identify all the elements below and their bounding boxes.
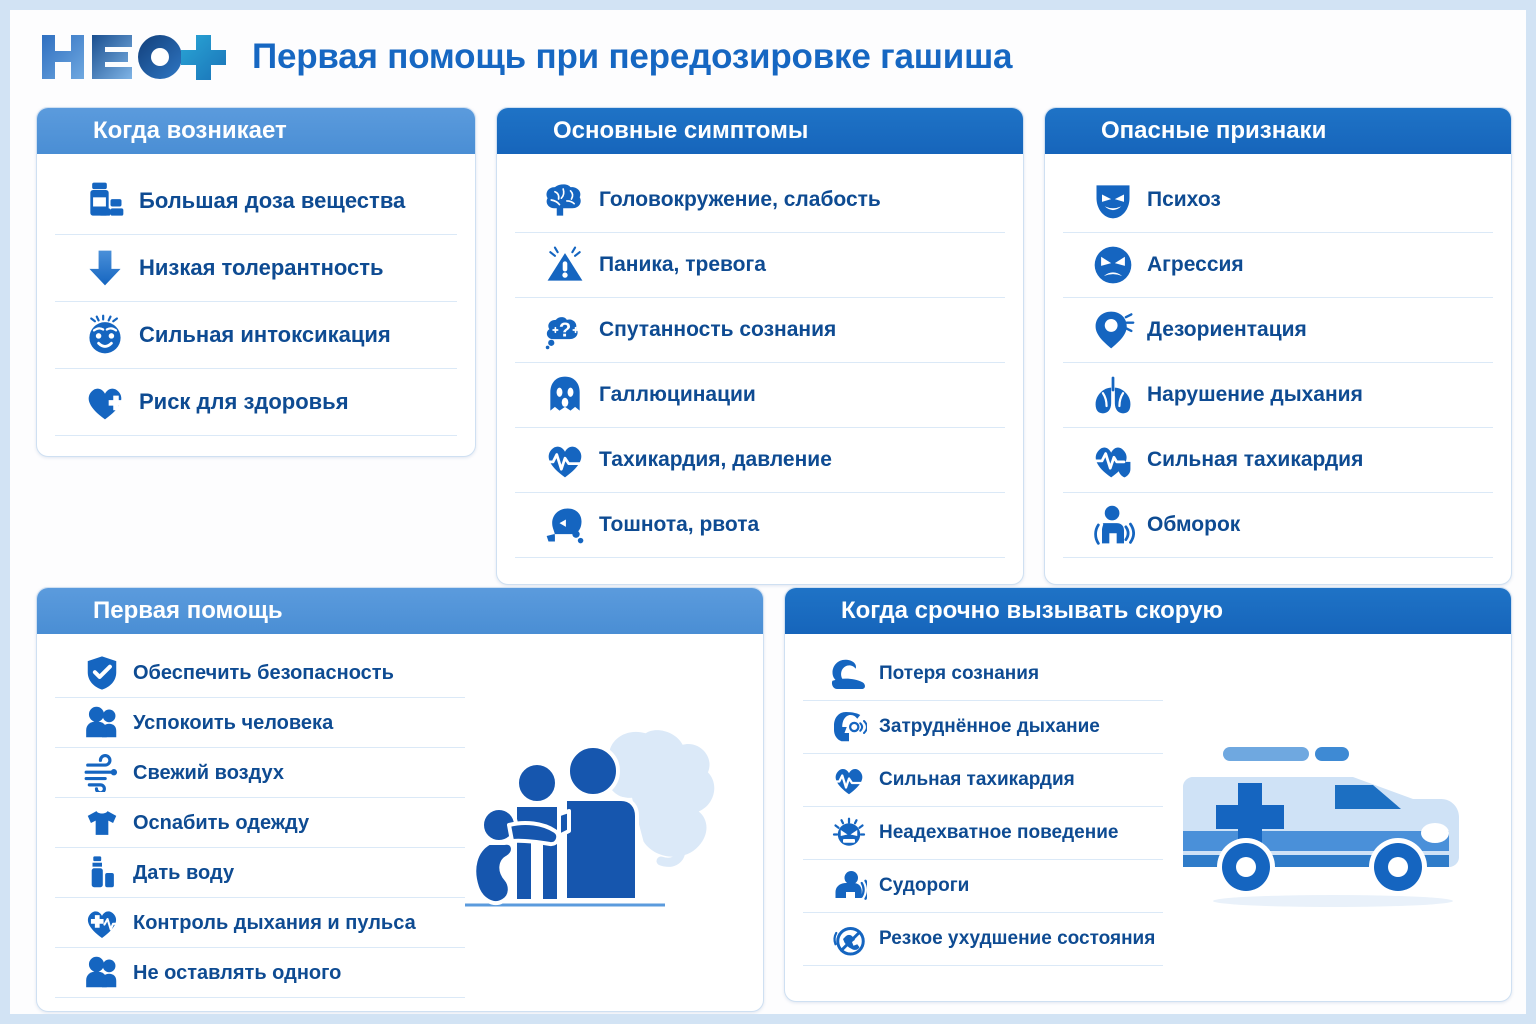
list-item[interactable]: Обморок: [1063, 493, 1493, 558]
warning-icon: [543, 243, 587, 287]
list-item-label: Судороги: [879, 876, 969, 897]
list-item[interactable]: Агрессия: [1063, 233, 1493, 298]
water-bottle-icon: [83, 854, 121, 892]
list-item[interactable]: Резкое ухудшение состояния: [803, 913, 1163, 966]
list-item-label: Большая доза вещества: [139, 189, 405, 213]
card-first-aid-title: Первая помощь: [37, 588, 763, 634]
list-item[interactable]: Осnабить одежду: [55, 798, 465, 848]
neo-plus-logo: [38, 29, 234, 85]
list-item-label: Свежий воздух: [133, 762, 284, 784]
angry-radiating-icon: [831, 815, 867, 851]
card-danger-signs: Опасные признаки Психоз: [1044, 107, 1512, 585]
fainting-icon: [1091, 503, 1135, 547]
shield-check-icon: [83, 654, 121, 692]
list-item[interactable]: Головокружение, слабость: [515, 168, 1005, 233]
list-item[interactable]: Судороги: [803, 860, 1163, 913]
list-item-label: Риск для здоровья: [139, 390, 349, 414]
list-item[interactable]: Галлюцинации: [515, 363, 1005, 428]
down-arrow-icon: [83, 246, 127, 290]
two-people-icon: [83, 954, 121, 992]
two-people-icon: [83, 704, 121, 742]
list-item-label: Обеспечить безопасность: [133, 662, 394, 684]
list-item-label: Обморок: [1147, 513, 1240, 536]
first-aid-list: Обеспечить безопасность Успокоить челове…: [55, 648, 465, 999]
list-item[interactable]: Успокоить человека: [55, 698, 465, 748]
page-header: Первая помощь при передозировке гашиша: [38, 18, 1012, 96]
list-item[interactable]: Потеря сознания: [803, 648, 1163, 701]
when-occurs-list: Большая доза вещества Низкая толерантнос…: [55, 168, 457, 444]
card-first-aid: Первая помощь Обеспечить безопасность: [36, 587, 764, 1012]
thought-question-icon: ?: [543, 308, 587, 352]
card-main-symptoms-title: Основные симптомы: [497, 108, 1023, 154]
ghost-icon: [543, 373, 587, 417]
list-item[interactable]: ? Спутанность сознания: [515, 298, 1005, 363]
list-item[interactable]: Дезориентация: [1063, 298, 1493, 363]
list-item-label: Головокружение, слабость: [599, 188, 881, 211]
list-item[interactable]: Нарушение дыхания: [1063, 363, 1493, 428]
unconscious-icon: [831, 656, 867, 692]
lungs-icon: [1091, 373, 1135, 417]
card-emergency-call: Когда срочно вызывать скорую Потеря созн…: [784, 587, 1512, 1002]
list-item-label: Дать воду: [133, 862, 234, 884]
list-item-label: Галлюцинации: [599, 383, 756, 406]
list-item[interactable]: Дать воду: [55, 848, 465, 898]
heart-shield-pulse-icon: [1091, 438, 1135, 482]
mask-icon: [1091, 178, 1135, 222]
list-item-label: Тошнота, рвота: [599, 513, 759, 536]
list-item[interactable]: Паника, тревога: [515, 233, 1005, 298]
list-item-label: Психоз: [1147, 188, 1221, 211]
pill-bottle-icon: [83, 179, 127, 223]
list-item-label: Спутанность сознания: [599, 318, 836, 341]
heart-pulse-icon: [543, 438, 587, 482]
breathing-difficulty-icon: [831, 709, 867, 745]
seizure-icon: [831, 868, 867, 904]
symptoms-list: Головокружение, слабость: [515, 168, 1005, 572]
heart-cross-icon: [83, 380, 127, 424]
list-item[interactable]: Психоз: [1063, 168, 1493, 233]
list-item[interactable]: Не оставлять одного: [55, 948, 465, 998]
list-item-label: Не оставлять одного: [133, 962, 341, 984]
supporting-people-illustration: [465, 648, 745, 999]
list-item[interactable]: Контроль дыхания и пульса: [55, 898, 465, 948]
emergency-list: Потеря сознания Затруднённое дыхание: [803, 648, 1163, 989]
list-item-label: Резкое ухудшение состояния: [879, 929, 1155, 950]
heart-cross-pulse-icon: [83, 904, 121, 942]
list-item[interactable]: Сильная интоксикация: [55, 302, 457, 369]
no-phone-icon: [831, 921, 867, 957]
page-title: Первая помощь при передозировке гашиша: [252, 37, 1012, 77]
vomit-icon: [543, 503, 587, 547]
list-item-label: Потеря сознания: [879, 664, 1039, 685]
dizzy-face-icon: [83, 313, 127, 357]
list-item[interactable]: Риск для здоровья: [55, 369, 457, 436]
list-item-label: Успокоить человека: [133, 712, 333, 734]
list-item[interactable]: Большая доза вещества: [55, 168, 457, 235]
list-item-label: Дезориентация: [1147, 318, 1307, 341]
list-item[interactable]: Неадехватное поведение: [803, 807, 1163, 860]
danger-list: Психоз Агрессия: [1063, 168, 1493, 572]
list-item-label: Агрессия: [1147, 253, 1244, 276]
list-item[interactable]: Свежий воздух: [55, 748, 465, 798]
ambulance-illustration: [1163, 648, 1493, 989]
page-root: Первая помощь при передозировке гашиша К…: [0, 0, 1536, 1024]
tshirt-icon: [83, 804, 121, 842]
list-item[interactable]: Тошнота, рвота: [515, 493, 1005, 558]
list-item-label: Тахикардия, давление: [599, 448, 832, 471]
card-main-symptoms: Основные симптомы Головокружение, слабос…: [496, 107, 1024, 585]
list-item[interactable]: Затруднённое дыхание: [803, 701, 1163, 754]
list-item-label: Затруднённое дыхание: [879, 717, 1100, 738]
card-when-occurs-title: Когда возникает: [37, 108, 475, 154]
list-item[interactable]: Низкая толерантность: [55, 235, 457, 302]
list-item-label: Нарушение дыхания: [1147, 383, 1363, 406]
list-item-label: Контроль дыхания и пульса: [133, 912, 416, 934]
list-item-label: Сильная тахикардия: [1147, 448, 1363, 471]
card-danger-signs-title: Опасные признаки: [1045, 108, 1511, 154]
heart-pulse-icon: [831, 762, 867, 798]
list-item-label: Сильная интоксикация: [139, 323, 391, 347]
svg-text:?: ?: [559, 319, 571, 341]
brain-icon: [543, 178, 587, 222]
list-item-label: Низкая толерантность: [139, 256, 384, 280]
list-item-label: Осnабить одежду: [133, 812, 309, 834]
card-emergency-call-title: Когда срочно вызывать скорую: [785, 588, 1511, 634]
list-item[interactable]: Обеспечить безопасность: [55, 648, 465, 698]
list-item[interactable]: Тахикардия, давление: [515, 428, 1005, 493]
angry-face-icon: [1091, 243, 1135, 287]
infographic-canvas: Первая помощь при передозировке гашиша К…: [10, 10, 1526, 1014]
card-when-occurs: Когда возникает Большая доза в: [36, 107, 476, 457]
list-item[interactable]: Сильная тахикардия: [803, 754, 1163, 807]
disorientation-icon: [1091, 308, 1135, 352]
list-item-label: Неадехватное поведение: [879, 823, 1118, 844]
list-item-label: Сильная тахикардия: [879, 770, 1075, 791]
list-item[interactable]: Сильная тахикардия: [1063, 428, 1493, 493]
wind-icon: [83, 754, 121, 792]
list-item-label: Паника, тревога: [599, 253, 766, 276]
